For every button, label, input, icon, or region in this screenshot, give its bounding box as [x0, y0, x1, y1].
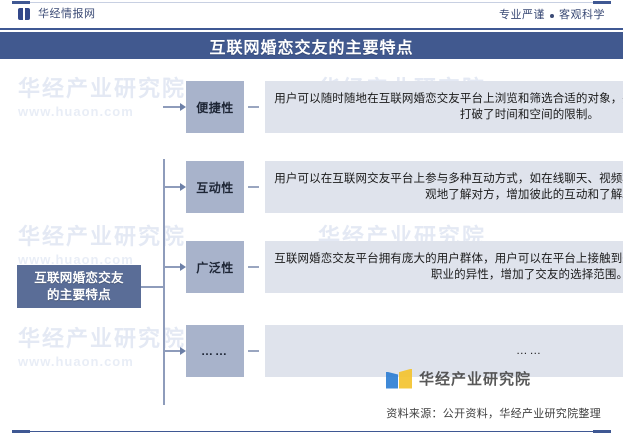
- top-rule-line: [30, 2, 593, 3]
- root-node-line1: 互联网婚恋交友: [34, 270, 124, 287]
- item-description-box: 用户可以随时随地在互联网婚恋交友平台上浏览和筛选合适的对象，并借助在线沟通工具进…: [265, 81, 623, 133]
- root-connector-stub: [141, 286, 164, 288]
- item-label-box[interactable]: 便捷性: [186, 81, 244, 133]
- item-label-box[interactable]: 广泛性: [186, 241, 244, 293]
- source-note: 资料来源：公开资料，华经产业研究院整理: [386, 405, 601, 421]
- watermark-line1: 华经产业研究院: [18, 219, 186, 251]
- root-node[interactable]: 互联网婚恋交友 的主要特点: [17, 265, 141, 308]
- tagline-left-text: 专业严谨: [499, 9, 545, 22]
- item-description-text: ……: [516, 343, 543, 360]
- item-description-text: 用户可以随时随地在互联网婚恋交友平台上浏览和筛选合适的对象，并借助在线沟通工具进…: [273, 91, 623, 124]
- watermark-line1: 华经产业研究院: [18, 71, 186, 103]
- item-dash-connector: [248, 266, 259, 268]
- watermark-line1: 华经产业研究院: [18, 321, 186, 353]
- watermark-line2: www.huaon.com: [18, 104, 186, 119]
- infographic-page: 华经情报网 专业严谨 客观科学 互联网婚恋交友的主要特点 华经产业研究院 www…: [0, 0, 623, 435]
- watermark: 华经产业研究院 www.huaon.com: [18, 71, 186, 119]
- header-tagline: 专业严谨 客观科学: [499, 9, 605, 22]
- two-panel-logo-icon: [386, 369, 412, 389]
- watermark: 华经产业研究院 www.huaon.com: [18, 219, 186, 267]
- company-logo: 华经产业研究院: [386, 368, 531, 389]
- item-description-text: 用户可以在互联网交友平台上参与多种互动方式，如在线聊天、视频相亲、动态分享等，能…: [273, 171, 623, 204]
- item-dash-connector: [248, 350, 259, 352]
- bottom-accent-rule: [0, 427, 623, 435]
- open-book-icon: [18, 8, 32, 20]
- connector-trunk: [163, 159, 165, 405]
- bottom-rule-right-cap: [593, 430, 611, 433]
- item-label-box[interactable]: ……: [186, 325, 244, 377]
- watermark: 华经产业研究院 www.huaon.com: [18, 321, 186, 369]
- item-label-box[interactable]: 互动性: [186, 161, 244, 213]
- item-dash-connector: [248, 106, 259, 108]
- bottom-rule-left-cap: [12, 430, 30, 433]
- diagram-canvas: 华经产业研究院 www.huaon.com 华经产业研究院 www.huaon.…: [0, 59, 623, 405]
- brand[interactable]: 华经情报网: [18, 8, 96, 20]
- watermark-line2: www.huaon.com: [18, 354, 186, 369]
- root-node-line2: 的主要特点: [34, 287, 124, 304]
- tagline-right-text: 客观科学: [559, 9, 605, 22]
- bullet-dot-icon: [550, 14, 554, 18]
- company-name: 华经产业研究院: [419, 368, 531, 389]
- item-description-text: 互联网婚恋交友平台拥有庞大的用户群体，用户可以在平台上接触到来自不同地区、不同背…: [273, 251, 623, 284]
- item-dash-connector: [248, 186, 259, 188]
- brand-name: 华经情报网: [38, 8, 96, 20]
- item-description-box: 互联网婚恋交友平台拥有庞大的用户群体，用户可以在平台上接触到来自不同地区、不同背…: [265, 241, 623, 293]
- title-band: 互联网婚恋交友的主要特点: [0, 32, 623, 59]
- page-title: 互联网婚恋交友的主要特点: [209, 34, 413, 58]
- item-description-box: 用户可以在互联网交友平台上参与多种互动方式，如在线聊天、视频相亲、动态分享等，能…: [265, 161, 623, 213]
- page-header: 华经情报网 专业严谨 客观科学: [0, 4, 623, 30]
- bottom-rule-line: [30, 431, 593, 432]
